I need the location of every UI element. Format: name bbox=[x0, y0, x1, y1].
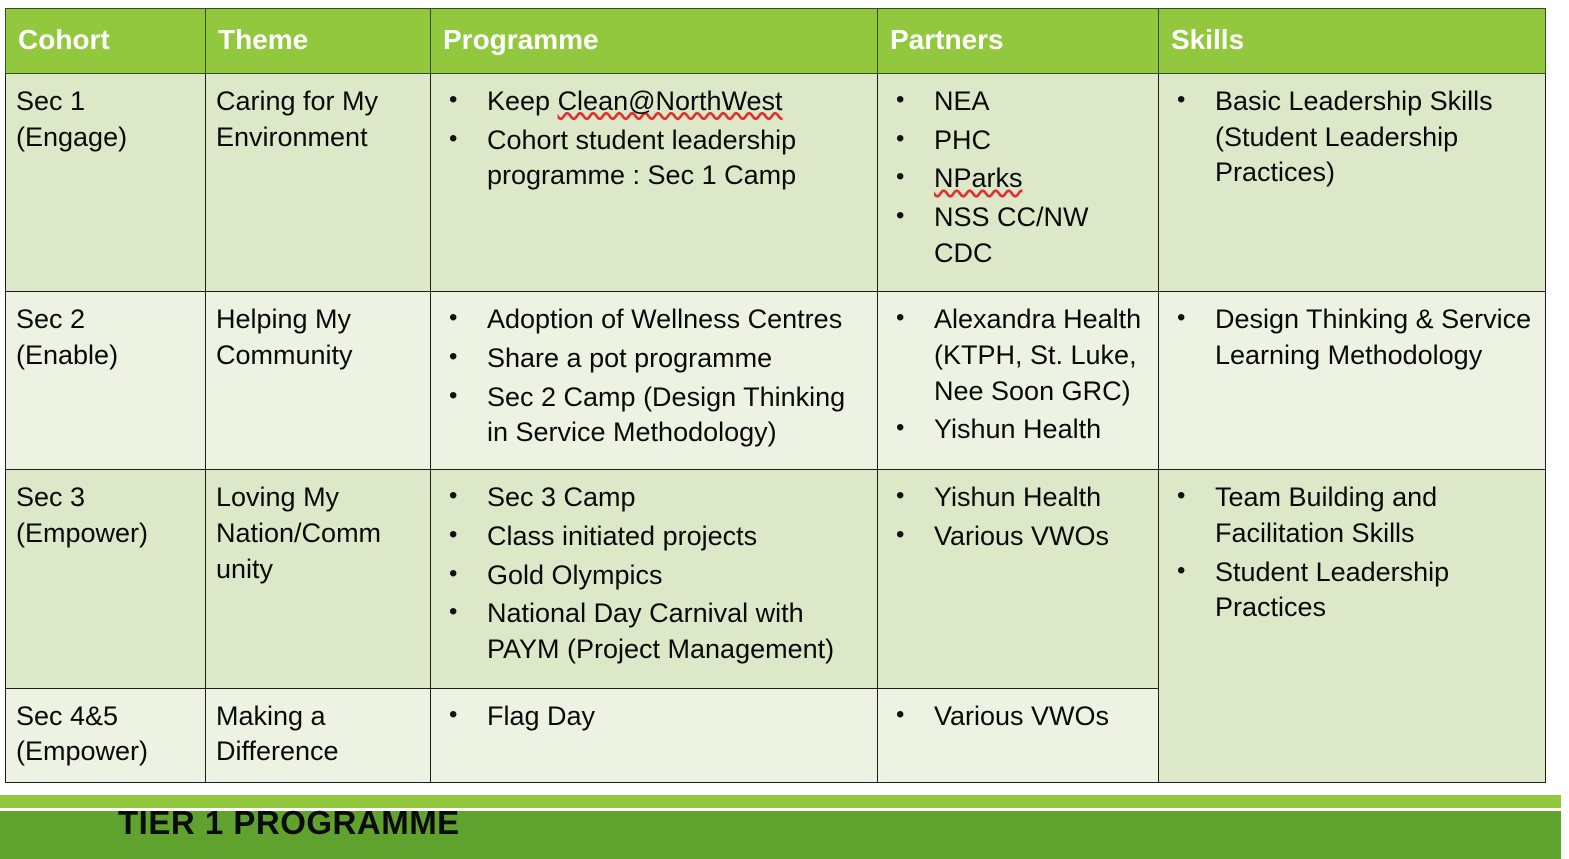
cell-partners: Alexandra Health (KTPH, St. Luke, Nee So… bbox=[878, 292, 1159, 470]
list-item: Class initiated projects bbox=[441, 519, 871, 555]
programme-list: Keep Clean@NorthWest Cohort student lead… bbox=[441, 84, 871, 194]
tier1-programme-table: Cohort Theme Programme Partners Skills S… bbox=[5, 8, 1545, 783]
list-item: Team Building and Facilitation Skills bbox=[1169, 480, 1539, 551]
skills-list: Design Thinking & Service Learning Metho… bbox=[1169, 302, 1539, 373]
list-item: Adoption of Wellness Centres bbox=[441, 302, 871, 338]
cell-cohort: Sec 2 (Enable) bbox=[6, 292, 206, 470]
cell-theme: Making a Difference bbox=[206, 688, 431, 782]
list-item: Various VWOs bbox=[888, 519, 1152, 555]
list-item: Sec 3 Camp bbox=[441, 480, 871, 516]
column-header-programme[interactable]: Programme bbox=[431, 9, 878, 74]
table-row: Sec 2 (Enable) Helping My Community Adop… bbox=[6, 292, 1546, 470]
list-item: Basic Leadership Skills (Student Leaders… bbox=[1169, 84, 1539, 191]
list-item: NParks bbox=[888, 161, 1152, 197]
table-row: Sec 1 (Engage) Caring for My Environment… bbox=[6, 74, 1546, 292]
list-item: Keep Clean@NorthWest bbox=[441, 84, 871, 120]
cell-partners: Yishun Health Various VWOs bbox=[878, 470, 1159, 688]
spellcheck-term: Clean@NorthWest bbox=[558, 86, 783, 116]
cell-programme: Sec 3 Camp Class initiated projects Gold… bbox=[431, 470, 878, 688]
table-header-row: Cohort Theme Programme Partners Skills bbox=[6, 9, 1546, 74]
column-header-theme[interactable]: Theme bbox=[206, 9, 431, 74]
partners-list: Yishun Health Various VWOs bbox=[888, 480, 1152, 554]
partners-list: Alexandra Health (KTPH, St. Luke, Nee So… bbox=[888, 302, 1152, 448]
cell-theme: Loving My Nation/Comm unity bbox=[206, 470, 431, 688]
list-item: Cohort student leadership programme : Se… bbox=[441, 123, 871, 194]
list-item: Flag Day bbox=[441, 699, 871, 735]
list-item: NEA bbox=[888, 84, 1152, 120]
column-header-skills[interactable]: Skills bbox=[1159, 9, 1546, 74]
cell-theme: Helping My Community bbox=[206, 292, 431, 470]
programme-list: Sec 3 Camp Class initiated projects Gold… bbox=[441, 480, 871, 667]
cell-partners: NEA PHC NParks NSS CC/NW CDC bbox=[878, 74, 1159, 292]
list-item: Share a pot programme bbox=[441, 341, 871, 377]
cell-skills: Team Building and Facilitation Skills St… bbox=[1159, 470, 1546, 783]
programme-matrix: Cohort Theme Programme Partners Skills S… bbox=[5, 8, 1546, 783]
cell-cohort: Sec 4&5 (Empower) bbox=[6, 688, 206, 782]
programme-list: Adoption of Wellness Centres Share a pot… bbox=[441, 302, 871, 451]
list-item: Yishun Health bbox=[888, 412, 1152, 448]
cell-programme: Adoption of Wellness Centres Share a pot… bbox=[431, 292, 878, 470]
cell-programme: Flag Day bbox=[431, 688, 878, 782]
list-item: National Day Carnival with PAYM (Project… bbox=[441, 596, 871, 667]
list-item: Student Leadership Practices bbox=[1169, 555, 1539, 626]
banner-title: TIER 1 PROGRAMME bbox=[118, 804, 460, 842]
column-header-cohort[interactable]: Cohort bbox=[6, 9, 206, 74]
list-item: Alexandra Health (KTPH, St. Luke, Nee So… bbox=[888, 302, 1152, 409]
cell-theme: Caring for My Environment bbox=[206, 74, 431, 292]
list-item: Gold Olympics bbox=[441, 558, 871, 594]
skills-list: Basic Leadership Skills (Student Leaders… bbox=[1169, 84, 1539, 191]
list-item: PHC bbox=[888, 123, 1152, 159]
skills-list: Team Building and Facilitation Skills St… bbox=[1169, 480, 1539, 626]
list-item: Sec 2 Camp (Design Thinking in Service M… bbox=[441, 380, 871, 451]
tier-banner: TIER 1 PROGRAMME bbox=[0, 795, 1561, 859]
programme-list: Flag Day bbox=[441, 699, 871, 735]
column-header-partners[interactable]: Partners bbox=[878, 9, 1159, 74]
table-body: Sec 1 (Engage) Caring for My Environment… bbox=[6, 74, 1546, 783]
cell-cohort: Sec 1 (Engage) bbox=[6, 74, 206, 292]
cell-partners: Various VWOs bbox=[878, 688, 1159, 782]
cell-skills: Design Thinking & Service Learning Metho… bbox=[1159, 292, 1546, 470]
list-item: Yishun Health bbox=[888, 480, 1152, 516]
list-item: Various VWOs bbox=[888, 699, 1152, 735]
cell-skills: Basic Leadership Skills (Student Leaders… bbox=[1159, 74, 1546, 292]
table-row: Sec 3 (Empower) Loving My Nation/Comm un… bbox=[6, 470, 1546, 688]
cell-cohort: Sec 3 (Empower) bbox=[6, 470, 206, 688]
partners-list: NEA PHC NParks NSS CC/NW CDC bbox=[888, 84, 1152, 271]
partners-list: Various VWOs bbox=[888, 699, 1152, 735]
spellcheck-term: NParks bbox=[934, 163, 1023, 193]
list-item: Design Thinking & Service Learning Metho… bbox=[1169, 302, 1539, 373]
cell-programme: Keep Clean@NorthWest Cohort student lead… bbox=[431, 74, 878, 292]
list-item: NSS CC/NW CDC bbox=[888, 200, 1152, 271]
